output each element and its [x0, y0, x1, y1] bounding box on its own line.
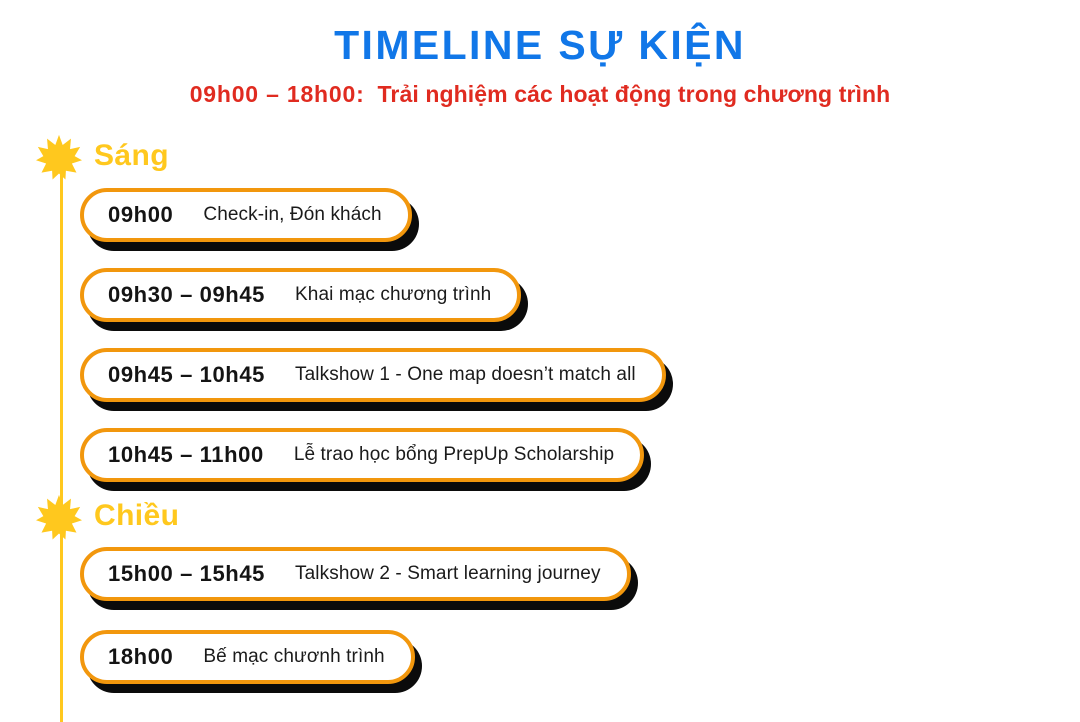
timeline-pill[interactable]: 09h30 – 09h45 Khai mạc chương trình — [80, 268, 521, 322]
sunburst-icon — [36, 494, 82, 540]
timeline-item[interactable]: 09h30 – 09h45 Khai mạc chương trình — [80, 268, 521, 322]
sunburst-icon — [36, 134, 82, 180]
timeline-section-label: Sáng — [94, 141, 169, 174]
timeline-item[interactable]: 09h00 Check-in, Đón khách — [80, 188, 412, 242]
timeline-section-header-afternoon: Chiều — [36, 494, 179, 540]
pill-description: Khai mạc chương trình — [295, 284, 491, 306]
timeline-item[interactable]: 09h45 – 10h45 Talkshow 1 - One map doesn… — [80, 348, 666, 402]
pill-description: Check-in, Đón khách — [203, 204, 381, 226]
timeline-spine — [60, 150, 63, 722]
pill-time: 09h00 — [108, 202, 173, 228]
pill-description: Lễ trao học bổng PrepUp Scholarship — [294, 444, 614, 466]
timeline-pill[interactable]: 15h00 – 15h45 Talkshow 2 - Smart learnin… — [80, 547, 631, 601]
pill-time: 09h30 – 09h45 — [108, 282, 265, 308]
pill-time: 18h00 — [108, 644, 173, 670]
pill-description: Talkshow 2 - Smart learning journey — [295, 563, 601, 585]
pill-time: 15h00 – 15h45 — [108, 561, 265, 587]
pill-time: 09h45 – 10h45 — [108, 362, 265, 388]
timeline-section-label: Chiều — [94, 501, 179, 534]
pill-time: 10h45 – 11h00 — [108, 442, 264, 468]
subtitle-time-range: 09h00 – 18h00: — [190, 81, 365, 107]
timeline-pill[interactable]: 10h45 – 11h00 Lễ trao học bổng PrepUp Sc… — [80, 428, 644, 482]
timeline-poster: TIMELINE SỰ KIỆN 09h00 – 18h00: Trải ngh… — [0, 0, 1080, 722]
poster-subtitle: 09h00 – 18h00: Trải nghiệm các hoạt động… — [0, 81, 1080, 107]
timeline-pill[interactable]: 09h45 – 10h45 Talkshow 1 - One map doesn… — [80, 348, 666, 402]
page-title: TIMELINE SỰ KIỆN — [0, 24, 1080, 67]
timeline-pill[interactable]: 18h00 Bế mạc chươnh trình — [80, 630, 415, 684]
subtitle-description: Trải nghiệm các hoạt động trong chương t… — [378, 81, 891, 107]
pill-description: Talkshow 1 - One map doesn’t match all — [295, 364, 636, 386]
timeline-item[interactable]: 15h00 – 15h45 Talkshow 2 - Smart learnin… — [80, 547, 631, 601]
timeline-item[interactable]: 10h45 – 11h00 Lễ trao học bổng PrepUp Sc… — [80, 428, 644, 482]
poster-header: TIMELINE SỰ KIỆN 09h00 – 18h00: Trải ngh… — [0, 0, 1080, 107]
pill-description: Bế mạc chươnh trình — [203, 646, 384, 668]
timeline-pill[interactable]: 09h00 Check-in, Đón khách — [80, 188, 412, 242]
timeline-item[interactable]: 18h00 Bế mạc chươnh trình — [80, 630, 415, 684]
timeline-section-header-morning: Sáng — [36, 134, 169, 180]
